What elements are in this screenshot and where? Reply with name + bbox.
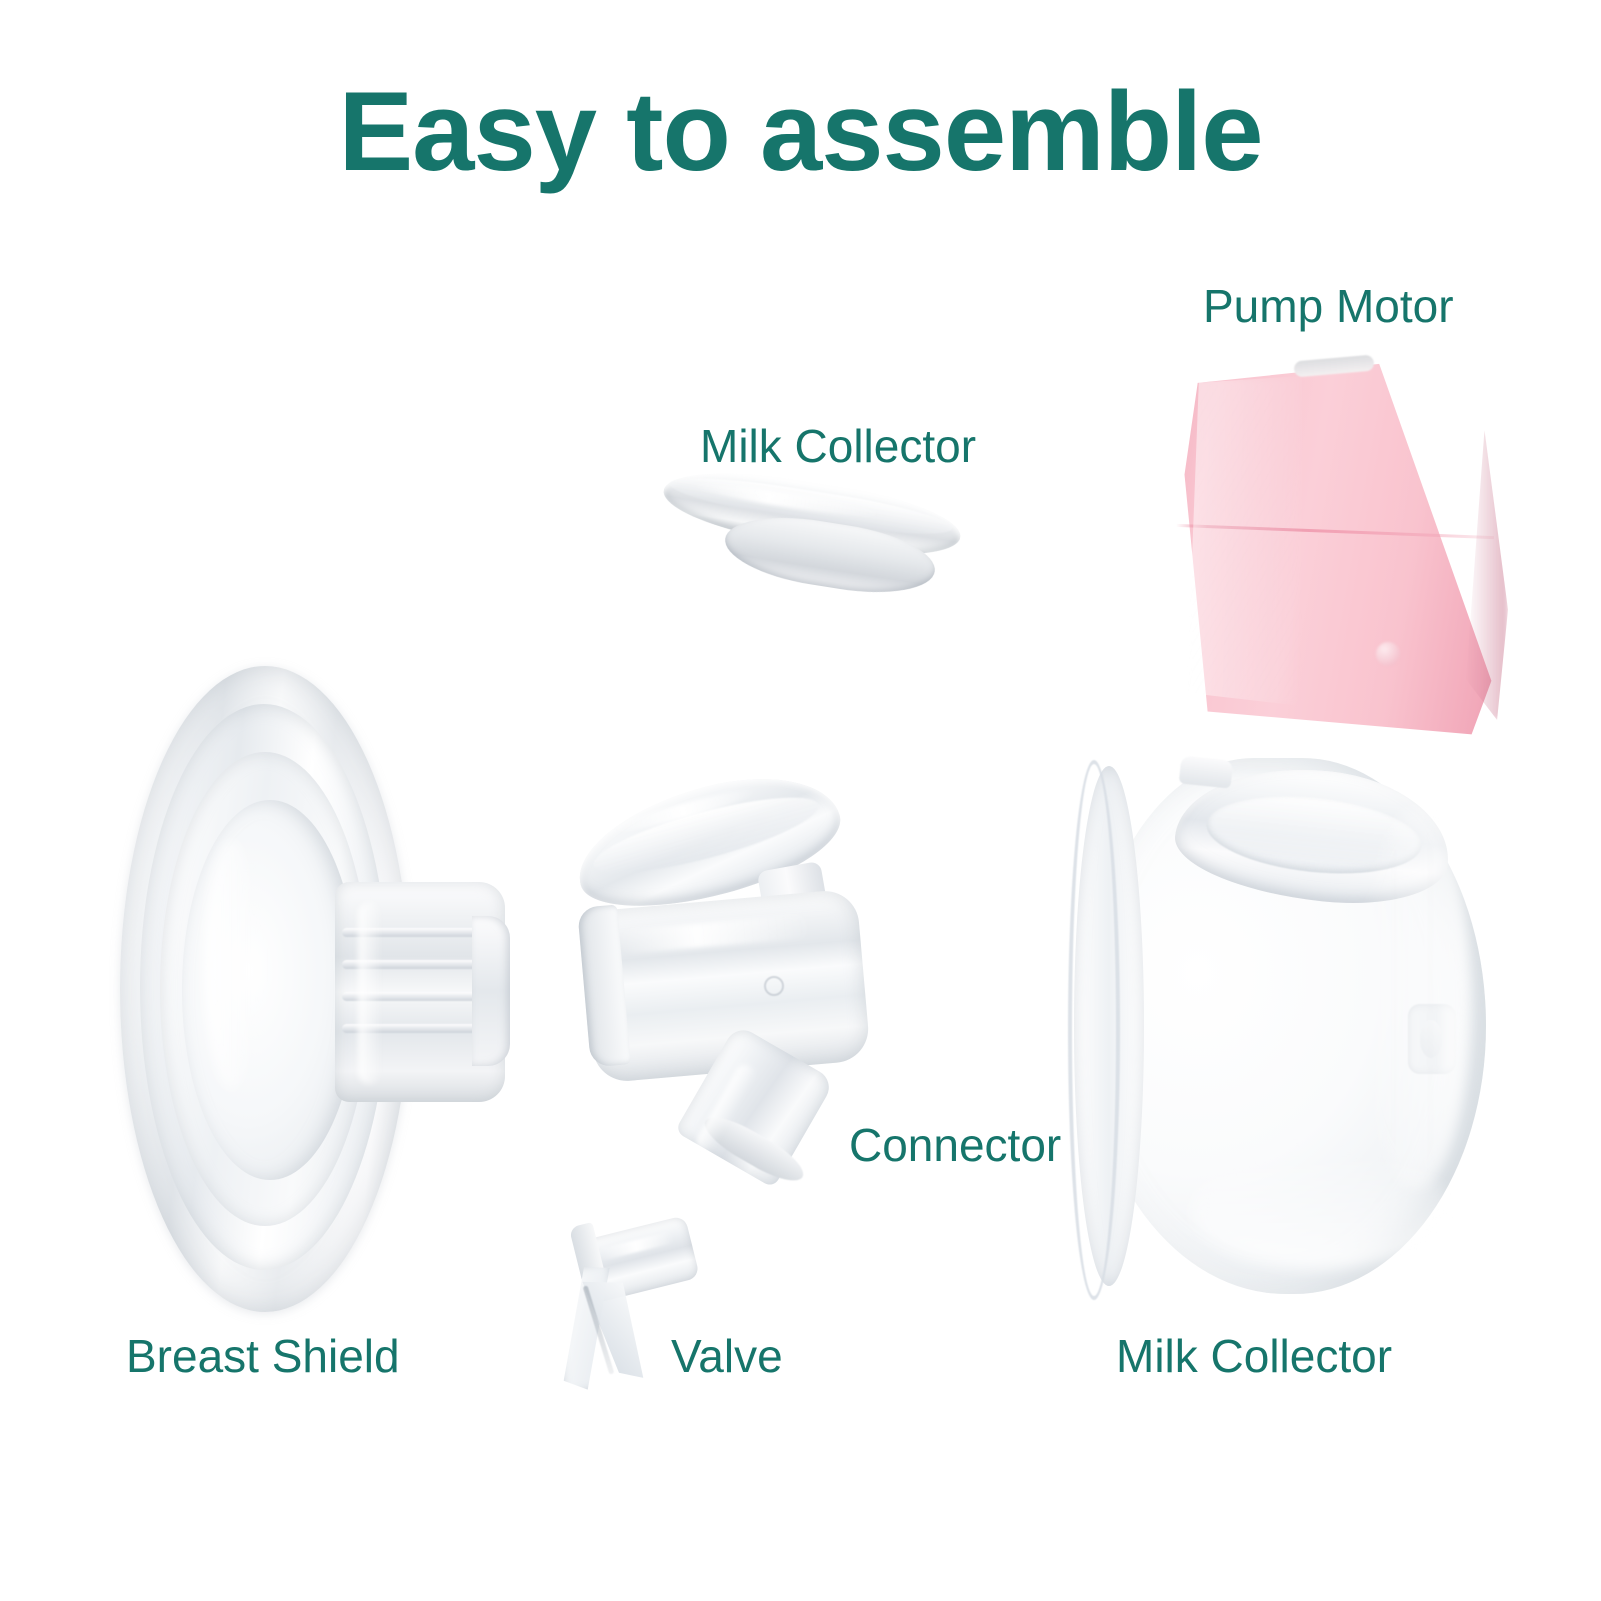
breast-shield-bowl-highlight: [204, 840, 260, 1090]
label-valve: Valve: [671, 1333, 783, 1379]
pump-motor-highlight: [1182, 376, 1302, 706]
breast-shield-neck-cap: [472, 916, 510, 1066]
milk-collector-cup-highlight-bottom: [1190, 1148, 1450, 1268]
milk-collector-cup-highlight-right: [1360, 808, 1470, 1188]
part-breast-shield: [120, 660, 520, 1340]
part-milk-collector-lid: [654, 473, 974, 613]
label-breast-shield: Breast Shield: [126, 1333, 400, 1379]
part-connector: [566, 782, 896, 1172]
part-pump-motor: [1148, 352, 1518, 752]
milk-collector-cup-neck-nub: [1179, 755, 1234, 788]
label-milk-collector-bottom: Milk Collector: [1116, 1333, 1392, 1379]
milk-collector-cup-rim: [1068, 760, 1120, 1300]
part-milk-collector-cup: [1060, 748, 1500, 1308]
product-assembly-infographic: Easy to assemble Pump Motor Milk Collect…: [0, 0, 1601, 1601]
page-title: Easy to assemble: [0, 68, 1601, 197]
pump-motor-edge-shadow: [1466, 430, 1508, 720]
connector-mold-mark: [764, 976, 784, 996]
label-pump-motor: Pump Motor: [1203, 283, 1454, 329]
label-milk-collector-top: Milk Collector: [700, 423, 976, 469]
label-connector: Connector: [849, 1122, 1061, 1168]
breast-shield-neck-highlight: [358, 902, 382, 1084]
pump-motor-dimple: [1376, 642, 1400, 666]
